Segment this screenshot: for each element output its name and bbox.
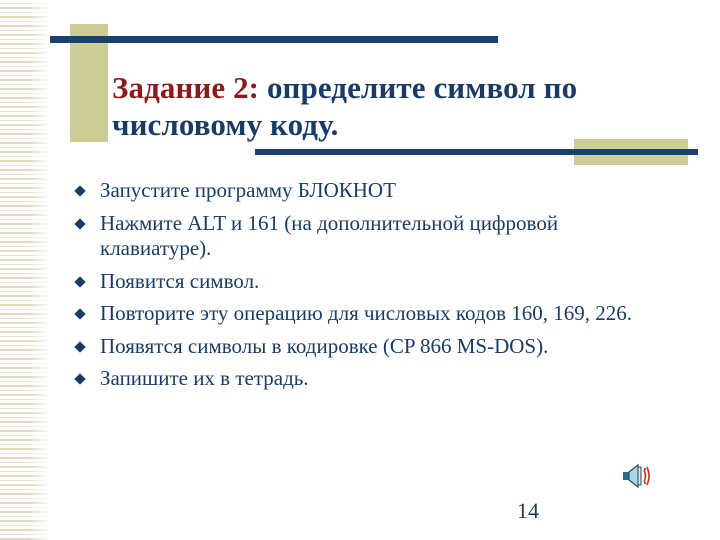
list-item: Появятся символы в кодировке (CP 866 MS-…: [74, 334, 674, 360]
diamond-bullet-icon: [74, 341, 85, 352]
list-item-label: Появится символ.: [100, 269, 259, 293]
title-rule-top: [50, 36, 498, 43]
list-item: Нажмите ALT и 161 (на дополнительной циф…: [74, 211, 674, 262]
page-title: Задание 2: определите символ по числовом…: [112, 69, 692, 143]
list-item: Запустите программу БЛОКНОТ: [74, 178, 674, 204]
list-item: Повторите эту операцию для числовых кодо…: [74, 301, 674, 327]
list-item-label: Нажмите ALT и 161 (на дополнительной циф…: [100, 211, 558, 261]
list-item-label: Появятся символы в кодировке (CP 866 MS-…: [100, 334, 548, 358]
diamond-bullet-icon: [74, 308, 85, 319]
list-item-label: Запустите программу БЛОКНОТ: [100, 178, 396, 202]
left-stripe-decoration: [0, 0, 48, 540]
diamond-bullet-icon: [74, 185, 85, 196]
list-item-label: Повторите эту операцию для числовых кодо…: [100, 301, 632, 325]
list-item-label: Запишите их в тетрадь.: [100, 366, 309, 390]
title-rule-bottom-overlay: [560, 149, 698, 155]
diamond-bullet-icon: [74, 373, 85, 384]
bullet-list: Запустите программу БЛОКНОТ Нажмите ALT …: [74, 178, 674, 399]
page-number: 14: [498, 498, 558, 524]
presentation-slide: Задание 2: определите символ по числовом…: [0, 0, 720, 540]
diamond-bullet-icon: [74, 218, 85, 229]
diamond-bullet-icon: [74, 276, 85, 287]
list-item: Запишите их в тетрадь.: [74, 366, 674, 392]
page-title-accent: Задание 2:: [112, 70, 259, 105]
list-item: Появится символ.: [74, 269, 674, 295]
speaker-icon[interactable]: [621, 461, 655, 491]
